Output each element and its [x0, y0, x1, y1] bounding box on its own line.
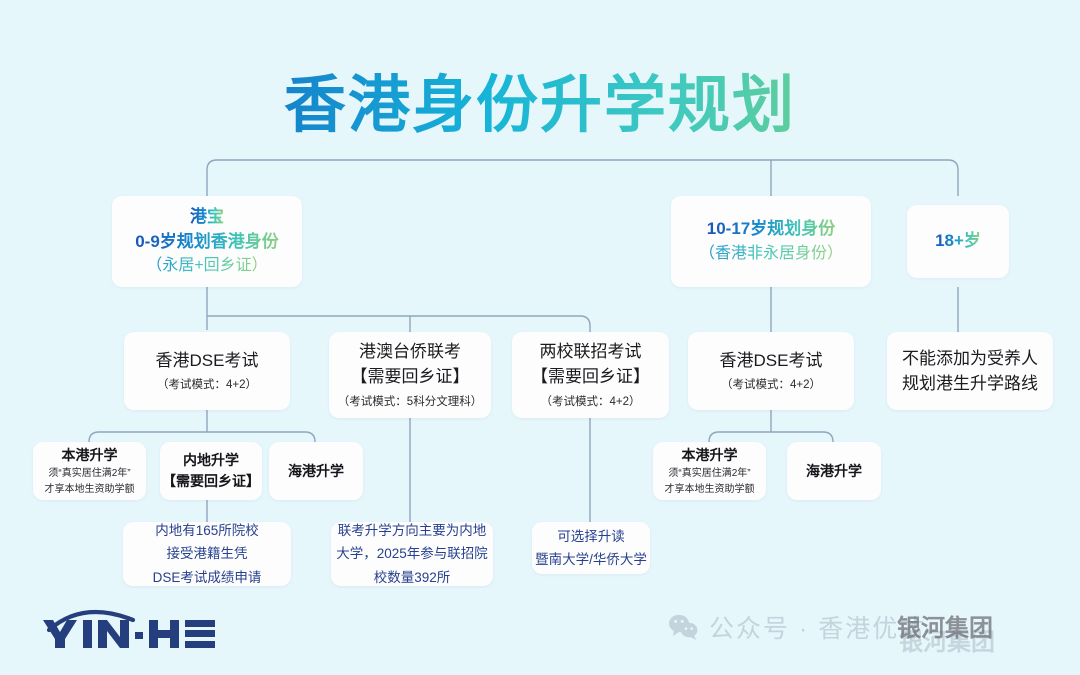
tier1-card-0-line3: （永居+回乡证）: [146, 254, 267, 278]
tier3-card-2[interactable]: 海港升学: [269, 442, 363, 500]
tier3-card-3-note1: 须“真实居住满2年”: [668, 466, 750, 482]
tier4-card-0-line2: 接受港籍生凭: [167, 542, 248, 565]
tier3-card-4-title1: 海港升学: [806, 461, 862, 482]
tier1-card-2[interactable]: 18+岁: [907, 205, 1009, 278]
tier1-card-0[interactable]: 港宝 0-9岁规划香港身份 （永居+回乡证）: [112, 196, 302, 287]
tier2-card-2-subtitle: （考试模式：4+2）: [540, 393, 640, 411]
wechat-footer: 公众号 · 香港优才: [668, 606, 926, 648]
tier2-card-2[interactable]: 两校联招考试 【需要回乡证】 （考试模式：4+2）: [512, 332, 669, 418]
tier1-card-0-line2: 0-9岁规划香港身份: [135, 230, 279, 255]
tier2-card-4-title1: 不能添加为受养人: [902, 346, 1038, 372]
wechat-account-text: 公众号 · 香港优才: [709, 609, 926, 645]
tier2-card-3-title1: 香港DSE考试: [720, 348, 823, 374]
tier2-card-4[interactable]: 不能添加为受养人 规划港生升学路线: [887, 332, 1053, 410]
tier4-card-0-line1: 内地有165所院校: [155, 519, 259, 542]
tier2-card-2-title1: 两校联招考试: [540, 339, 642, 365]
tier2-card-0[interactable]: 香港DSE考试 （考试模式：4+2）: [124, 332, 290, 410]
tier1-card-1-line2: 10-17岁规划身份: [707, 217, 835, 242]
tier2-card-0-subtitle: （考试模式：4+2）: [157, 376, 257, 394]
watermark-text: 银河集团: [897, 608, 993, 643]
tier2-card-0-title1: 香港DSE考试: [156, 348, 259, 374]
tier3-card-0-note1: 须“真实居住满2年”: [48, 466, 130, 482]
tier3-card-3[interactable]: 本港升学 须“真实居住满2年” 才享本地生资助学额: [653, 442, 766, 500]
tier2-card-1-subtitle: （考试模式：5科分文理科）: [338, 393, 482, 411]
tier1-card-0-line1: 港宝: [190, 205, 224, 230]
tier4-card-2[interactable]: 可选择升读 暨南大学/华侨大学: [532, 522, 650, 574]
tier3-card-1-title1: 内地升学: [183, 450, 239, 471]
tier3-card-1[interactable]: 内地升学 【需要回乡证】: [160, 442, 262, 500]
wechat-icon: [668, 614, 698, 640]
tier2-card-2-title2: 【需要回乡证】: [531, 364, 650, 390]
tier2-card-4-title2: 规划港生升学路线: [902, 371, 1038, 397]
tier2-card-3-subtitle: （考试模式：4+2）: [721, 376, 821, 394]
tier3-card-4[interactable]: 海港升学: [787, 442, 881, 500]
tier2-card-1-title1: 港澳台侨联考: [359, 339, 461, 365]
tier4-card-2-line2: 暨南大学/华侨大学: [535, 548, 647, 571]
infographic-canvas: 香港身份升学规划 港宝 0-9岁规划香港身份 （永居+回乡证） 10-17岁规划…: [0, 0, 1080, 675]
tier4-card-1-line1: 联考升学方向主要为内地: [338, 519, 487, 542]
tier2-card-3[interactable]: 香港DSE考试 （考试模式：4+2）: [688, 332, 854, 410]
tier3-card-0-note2: 才享本地生资助学额: [45, 482, 135, 498]
tier3-card-0[interactable]: 本港升学 须“真实居住满2年” 才享本地生资助学额: [33, 442, 146, 500]
tier4-card-1[interactable]: 联考升学方向主要为内地 大学，2025年参与联招院 校数量392所: [331, 522, 493, 586]
tier3-card-2-title1: 海港升学: [288, 461, 344, 482]
tier3-card-1-title2: 【需要回乡证】: [162, 471, 260, 492]
tier4-card-2-line1: 可选择升读: [557, 525, 625, 548]
tier3-card-0-title1: 本港升学: [62, 445, 118, 466]
tier4-card-0[interactable]: 内地有165所院校 接受港籍生凭 DSE考试成绩申请: [123, 522, 291, 586]
tier2-card-1[interactable]: 港澳台侨联考 【需要回乡证】 （考试模式：5科分文理科）: [329, 332, 491, 418]
tier2-card-1-title2: 【需要回乡证】: [351, 364, 470, 390]
tier4-card-1-line2: 大学，2025年参与联招院: [336, 542, 488, 565]
tier4-card-0-line3: DSE考试成绩申请: [153, 566, 262, 589]
yinhe-logo: [35, 604, 215, 650]
tier1-card-2-line2: 18+岁: [935, 229, 981, 254]
tier4-card-1-line3: 校数量392所: [374, 566, 451, 589]
tier1-card-1-line3: （香港非永居身份）: [699, 242, 843, 266]
tier1-card-1[interactable]: 10-17岁规划身份 （香港非永居身份）: [671, 196, 871, 287]
tier3-card-3-note2: 才享本地生资助学额: [665, 482, 755, 498]
tier3-card-3-title1: 本港升学: [682, 445, 738, 466]
